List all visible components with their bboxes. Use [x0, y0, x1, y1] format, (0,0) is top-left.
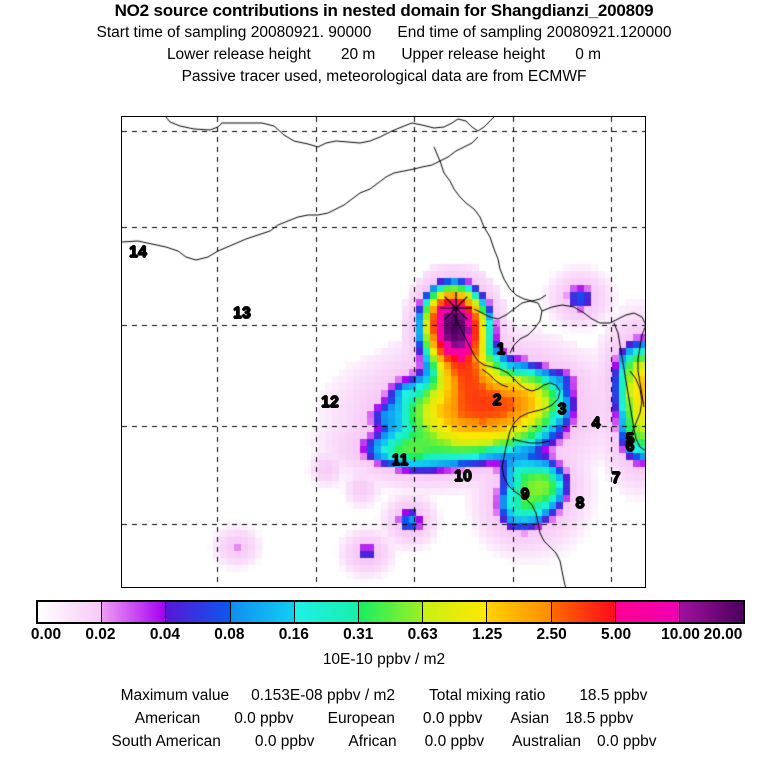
map-region-label: 1 — [497, 342, 506, 358]
map-region-label: 3 — [558, 402, 567, 418]
figure-header: NO2 source contributions in nested domai… — [0, 0, 768, 88]
colorbar-tick: 1.25 — [472, 626, 502, 644]
map-plot-area: 1413121110987654321 — [121, 116, 646, 588]
african-label: African — [348, 730, 396, 753]
asian-label: Asian — [510, 707, 549, 730]
colorbar-tick-labels: 0.000.020.040.080.160.310.631.252.505.00… — [36, 626, 745, 646]
colorbar-tick: 10.00 — [661, 626, 700, 644]
maximum-value: 0.153E-08 ppbv / m2 — [251, 684, 395, 707]
map-region-label: 5 — [626, 432, 635, 448]
colorbar-band — [294, 602, 358, 622]
colorbar-unit-label: 10E-10 ppbv / m2 — [0, 651, 768, 669]
upper-release-value: 0 m — [575, 44, 601, 66]
total-mixing-ratio-value: 18.5 ppbv — [579, 684, 647, 707]
colorbar-band — [230, 602, 294, 622]
lower-release-value: 20 m — [341, 44, 375, 66]
colorbar: 0.000.020.040.080.160.310.631.252.505.00… — [36, 600, 745, 624]
colorbar-tick: 0.00 — [31, 626, 61, 644]
start-time-label: Start time of sampling — [97, 22, 247, 44]
max-and-total-row: Maximum value 0.153E-08 ppbv / m2 Total … — [0, 684, 768, 707]
map-region-label: 9 — [521, 487, 530, 503]
tracer-note: Passive tracer used, meteorological data… — [0, 66, 768, 88]
map-region-label: 12 — [321, 395, 339, 411]
american-value: 0.0 ppbv — [234, 707, 293, 730]
colorbar-band — [101, 602, 165, 622]
contribution-row-1: American 0.0 ppbv European 0.0 ppbv Asia… — [0, 707, 768, 730]
end-time-label: End time of sampling — [397, 22, 542, 44]
south-american-label: South American — [111, 730, 220, 753]
colorbar-band — [615, 602, 679, 622]
map-region-label: 8 — [576, 496, 585, 512]
map-region-label: 14 — [129, 245, 147, 261]
colorbar-band — [422, 602, 486, 622]
colorbar-band — [486, 602, 550, 622]
map-region-label: 11 — [392, 453, 409, 469]
colorbar-bands — [36, 600, 745, 624]
total-mixing-ratio-label: Total mixing ratio — [429, 684, 545, 707]
contribution-row-2: South American 0.0 ppbv African 0.0 ppbv… — [0, 730, 768, 753]
concentration-heatmap-canvas — [122, 117, 646, 588]
upper-release-label: Upper release height — [401, 44, 545, 66]
colorbar-band — [165, 602, 229, 622]
map-region-label: 13 — [233, 306, 251, 322]
map-region-label: 7 — [612, 471, 621, 487]
colorbar-tick: 0.08 — [214, 626, 244, 644]
european-label: European — [328, 707, 395, 730]
australian-label: Australian — [512, 730, 581, 753]
asian-value: 18.5 ppbv — [565, 707, 633, 730]
map-region-label: 2 — [493, 393, 502, 409]
european-value: 0.0 ppbv — [423, 707, 482, 730]
lower-release-label: Lower release height — [167, 44, 311, 66]
colorbar-tick: 2.50 — [537, 626, 567, 644]
sampling-time-row: Start time of sampling 20080921. 90000 E… — [0, 22, 768, 44]
colorbar-tick: 0.02 — [85, 626, 115, 644]
australian-value: 0.0 ppbv — [597, 730, 656, 753]
map-region-label: 10 — [454, 469, 472, 485]
end-time-value: 20080921.120000 — [546, 22, 671, 44]
colorbar-band — [679, 602, 743, 622]
colorbar-tick: 0.63 — [408, 626, 438, 644]
colorbar-tick: 0.31 — [343, 626, 373, 644]
start-time-value: 20080921. 90000 — [251, 22, 372, 44]
page-title: NO2 source contributions in nested domai… — [0, 0, 768, 22]
colorbar-tick: 5.00 — [601, 626, 631, 644]
release-height-row: Lower release height 20 m Upper release … — [0, 44, 768, 66]
statistics-footer: Maximum value 0.153E-08 ppbv / m2 Total … — [0, 684, 768, 753]
colorbar-tick: 0.16 — [279, 626, 309, 644]
south-american-value: 0.0 ppbv — [255, 730, 314, 753]
maximum-value-label: Maximum value — [121, 684, 230, 707]
colorbar-band — [38, 602, 101, 622]
map-region-label: 4 — [592, 416, 601, 432]
colorbar-tick: 20.00 — [704, 626, 743, 644]
tracer-note-text: Passive tracer used, meteorological data… — [182, 66, 587, 88]
american-label: American — [135, 707, 200, 730]
colorbar-tick: 0.04 — [150, 626, 180, 644]
colorbar-band — [358, 602, 422, 622]
colorbar-band — [551, 602, 615, 622]
african-value: 0.0 ppbv — [425, 730, 484, 753]
